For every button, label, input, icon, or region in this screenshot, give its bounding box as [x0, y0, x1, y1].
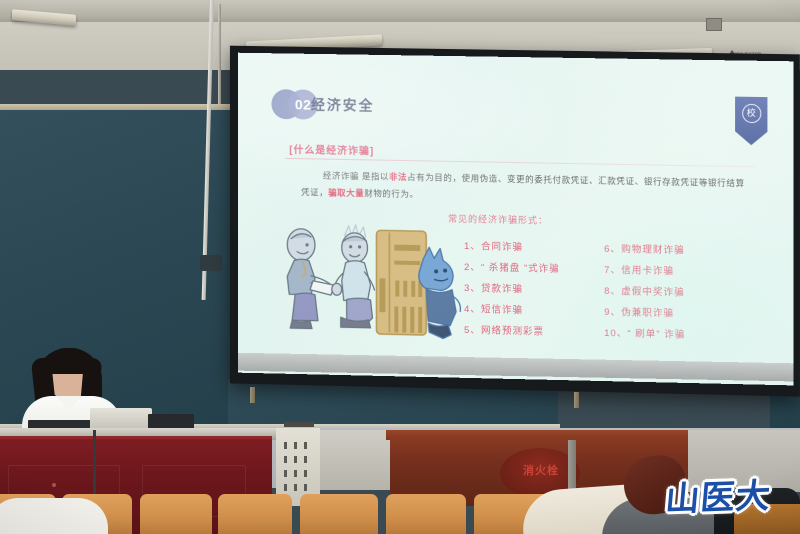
- list-item-label: 合同诈骗: [481, 241, 523, 253]
- microphone-stand: [93, 430, 96, 500]
- list-item: 2、“ 杀猪盘 ”式诈骗: [464, 257, 560, 280]
- list-item-label: “ 刷单” 诈骗: [627, 328, 685, 340]
- fraud-illustration: [267, 220, 461, 349]
- list-item-label: “ 杀猪盘 ”式诈骗: [481, 262, 560, 275]
- list-item-label: 伪兼职诈骗: [621, 307, 674, 319]
- cabinet-vent: [304, 456, 307, 463]
- list-item-number: 2、: [464, 257, 481, 278]
- cabinet-vent: [304, 470, 307, 477]
- emblem-ring: 校: [742, 104, 761, 123]
- cabinet-vent: [294, 470, 297, 477]
- list-item-label: 信用卡诈骗: [621, 265, 674, 277]
- forms-column-left: 1、合同诈骗 2、“ 杀猪盘 ”式诈骗 3、贷款诈骗 4、短信诈骗 5、网络预测…: [464, 236, 560, 343]
- cabinet-vent: [294, 456, 297, 463]
- projection-screen[interactable]: 02 经济安全 校 [什么是经济诈骗] 经济诈骗 是指以非法占有为目的，使用伪造…: [238, 53, 794, 386]
- wall-pipe: [218, 4, 221, 108]
- lecture-hall-photo: PROJECTOR 02 经济安全 校 [什么是经济诈骗] 经济诈骗 是指以非法…: [0, 0, 800, 534]
- emblem-glyph: 校: [747, 109, 756, 118]
- list-item: 8、虚假中奖诈骗: [604, 281, 685, 304]
- list-item: 4、短信诈骗: [464, 299, 560, 322]
- watermark-logo: 山医大: [664, 468, 774, 521]
- cabinet-vent: [284, 470, 287, 477]
- list-item-label: 虚假中奖诈骗: [621, 286, 684, 298]
- list-item: 1、合同诈骗: [464, 236, 560, 259]
- list-item-number: 4、: [464, 299, 481, 320]
- list-item-number: 6、: [604, 239, 621, 260]
- forms-column-right: 6、购物理财诈骗 7、信用卡诈骗 8、虚假中奖诈骗 9、伪兼职诈骗 10、“ 刷…: [604, 239, 685, 346]
- university-emblem: 校: [735, 97, 767, 146]
- lectern-knob: [52, 483, 56, 487]
- laptop-screen: [90, 408, 152, 430]
- list-item: 7、信用卡诈骗: [604, 260, 685, 283]
- definition-highlight-2: 骗取大量: [328, 188, 364, 199]
- ceiling-junction-box: [706, 18, 722, 31]
- list-item-number: 3、: [464, 278, 481, 299]
- side-wall-panel: [320, 430, 390, 490]
- cabinet-vent: [294, 442, 297, 449]
- classroom-seat: [218, 494, 292, 534]
- screen-support-leg: [574, 392, 579, 408]
- classroom-seat: [300, 494, 378, 534]
- list-item: 3、贷款诈骗: [464, 278, 560, 301]
- slide-subheading: [什么是经济诈骗]: [289, 141, 374, 157]
- list-item-number: 5、: [464, 320, 481, 341]
- list-item: 6、购物理财诈骗: [604, 239, 685, 262]
- list-item-number: 8、: [604, 281, 621, 302]
- list-item-number: 1、: [464, 236, 481, 257]
- cabinet-vent: [284, 456, 287, 463]
- cabinet-vent: [304, 442, 307, 449]
- screen-support-leg: [250, 387, 255, 403]
- list-item-label: 短信诈骗: [481, 304, 523, 316]
- cabinet-vent: [284, 442, 287, 449]
- foreground-object: [0, 498, 108, 534]
- classroom-seat: [386, 494, 466, 534]
- definition-tail: 财物的行为。: [364, 188, 418, 199]
- list-item-label: 购物理财诈骗: [621, 244, 684, 256]
- projector-bracket: [200, 255, 222, 271]
- list-item-number: 10、: [604, 323, 627, 345]
- cabinet-vent: [304, 484, 307, 491]
- cabinet-vent: [284, 484, 287, 491]
- definition-lead: 经济诈骗 是指以: [323, 171, 389, 182]
- list-item: 5、网络预测彩票: [464, 320, 560, 343]
- list-item-number: 9、: [604, 302, 621, 323]
- cabinet-vent-slot: [284, 422, 314, 427]
- divider: [285, 158, 755, 167]
- fire-hydrant-sign-text: 消火栓: [505, 462, 577, 478]
- list-item-label: 网络预测彩票: [481, 325, 544, 337]
- list-item: 9、伪兼职诈骗: [604, 302, 685, 325]
- section-title: 经济安全: [311, 95, 374, 116]
- list-item-number: 7、: [604, 260, 621, 281]
- cabinet-vent: [294, 484, 297, 491]
- forms-title: 常见的经济诈骗形式：: [448, 212, 548, 227]
- presentation-slide: 02 经济安全 校 [什么是经济诈骗] 经济诈骗 是指以非法占有为目的，使用伪造…: [238, 53, 794, 386]
- list-item: 10、“ 刷单” 诈骗: [604, 323, 685, 346]
- classroom-seat: [140, 494, 212, 534]
- list-item-label: 贷款诈骗: [481, 283, 523, 295]
- definition-paragraph: 经济诈骗 是指以非法占有为目的，使用伪造、变更的委托付款凭证、汇款凭证、银行存款…: [301, 167, 749, 209]
- definition-highlight-1: 非法: [389, 172, 407, 182]
